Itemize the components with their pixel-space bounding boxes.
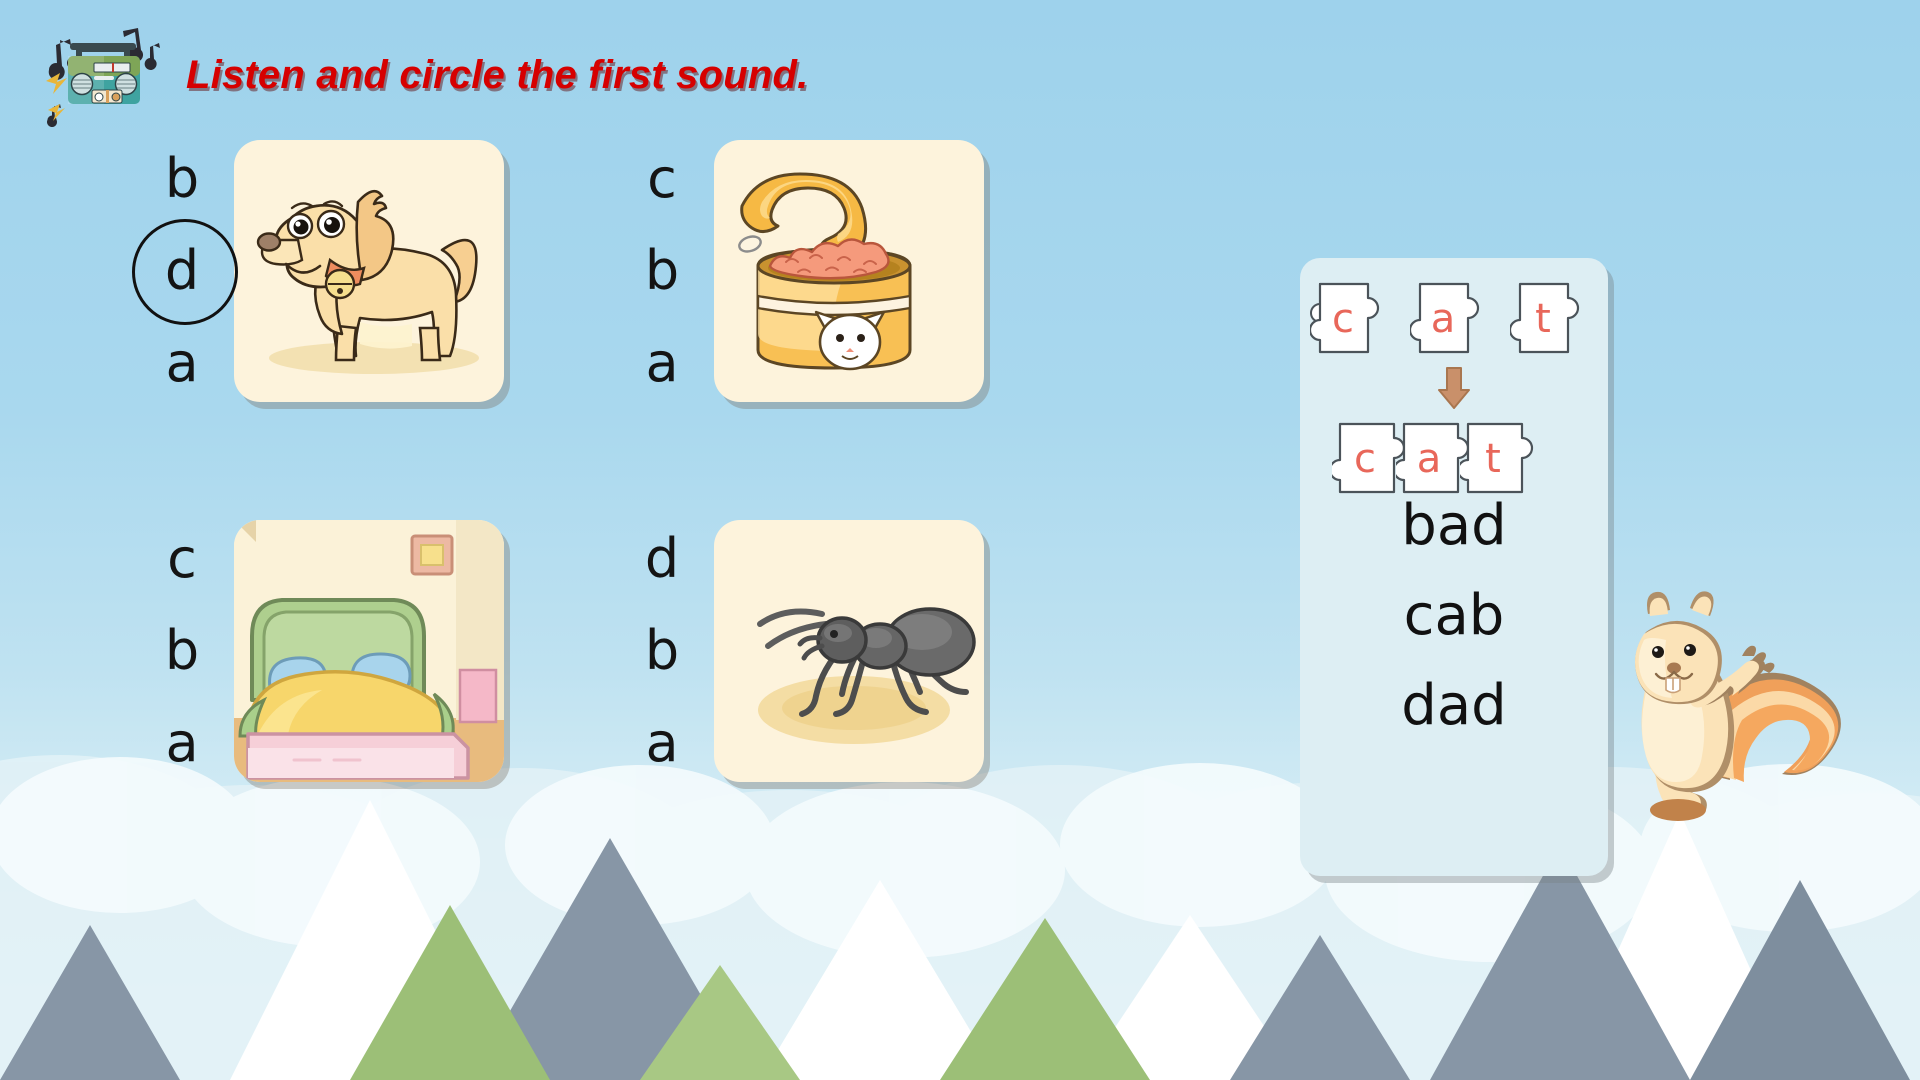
choice-q4-2[interactable]: a — [610, 716, 714, 770]
puzzle-letter: c — [1354, 436, 1376, 482]
picture-card-ant[interactable] — [714, 520, 984, 782]
choice-q1-2[interactable]: a — [130, 336, 234, 390]
puzzle-letter: t — [1535, 296, 1551, 342]
hills-green — [350, 905, 1150, 1080]
question-grid: b d a — [130, 140, 1010, 800]
sound-bolts — [46, 73, 67, 121]
question-3: c b a — [130, 520, 504, 782]
word-list: bad cab dad — [1300, 498, 1608, 768]
puzzle-tile-bot-0[interactable]: c — [1332, 416, 1406, 500]
boombox-icon[interactable] — [26, 18, 176, 128]
choices-q4: d b a — [610, 520, 714, 782]
puzzle-letter: t — [1485, 436, 1501, 482]
choices-q1: b d a — [130, 140, 234, 402]
word-list-item-1[interactable]: cab — [1300, 588, 1608, 644]
word-list-item-2[interactable]: dad — [1300, 678, 1608, 734]
choice-q1-0[interactable]: b — [130, 152, 234, 206]
puzzle-tiles-joined: c a t — [1332, 416, 1534, 500]
page-title: Listen and circle the first sound. — [186, 53, 808, 98]
choice-q4-1[interactable]: b — [610, 624, 714, 678]
question-1: b d a — [130, 140, 504, 402]
question-4: d b a — [610, 520, 984, 782]
choice-q3-1[interactable]: b — [130, 624, 234, 678]
worksheet-stage: Listen and circle the first sound. b d a — [0, 0, 1920, 1080]
puzzle-tile-bot-2[interactable]: t — [1460, 416, 1534, 500]
boombox-body — [68, 43, 140, 104]
puzzle-tiles-separated: c a t — [1310, 276, 1588, 360]
word-list-item-0[interactable]: bad — [1300, 498, 1608, 554]
worksheet-header: Listen and circle the first sound. — [26, 18, 808, 128]
choices-q3: c b a — [130, 520, 234, 782]
choice-q2-1[interactable]: b — [610, 244, 714, 298]
question-2: c b a — [610, 140, 984, 402]
puzzle-tile-top-1[interactable]: a — [1410, 276, 1488, 360]
puzzle-tile-bot-1[interactable]: a — [1396, 416, 1470, 500]
picture-card-bed[interactable] — [234, 520, 504, 782]
choice-q2-2[interactable]: a — [610, 336, 714, 390]
choice-q3-2[interactable]: a — [130, 716, 234, 770]
choices-q2: c b a — [610, 140, 714, 402]
puzzle-letter: c — [1332, 296, 1354, 342]
picture-card-dog[interactable] — [234, 140, 504, 402]
wall-picture-frame — [412, 536, 452, 574]
arrow-down-icon — [1437, 366, 1471, 410]
chipmunk-mascot — [1630, 570, 1880, 830]
mountains-grey — [0, 838, 1910, 1080]
puzzle-letter: a — [1431, 296, 1456, 342]
ant-illustration — [714, 520, 984, 782]
dog-illustration — [234, 140, 504, 402]
puzzle-tile-top-2[interactable]: t — [1510, 276, 1588, 360]
puzzle-tile-top-0[interactable]: c — [1310, 276, 1388, 360]
choice-q2-0[interactable]: c — [610, 152, 714, 206]
bed-illustration — [234, 520, 504, 782]
word-building-panel: c a t c a — [1300, 258, 1608, 876]
chipmunk-illustration — [1630, 570, 1880, 830]
choice-q1-1[interactable]: d — [130, 244, 234, 298]
choice-q4-0[interactable]: d — [610, 532, 714, 586]
picture-card-can[interactable] — [714, 140, 984, 402]
choice-q3-0[interactable]: c — [130, 532, 234, 586]
can-illustration — [714, 140, 984, 402]
puzzle-letter: a — [1417, 436, 1442, 482]
